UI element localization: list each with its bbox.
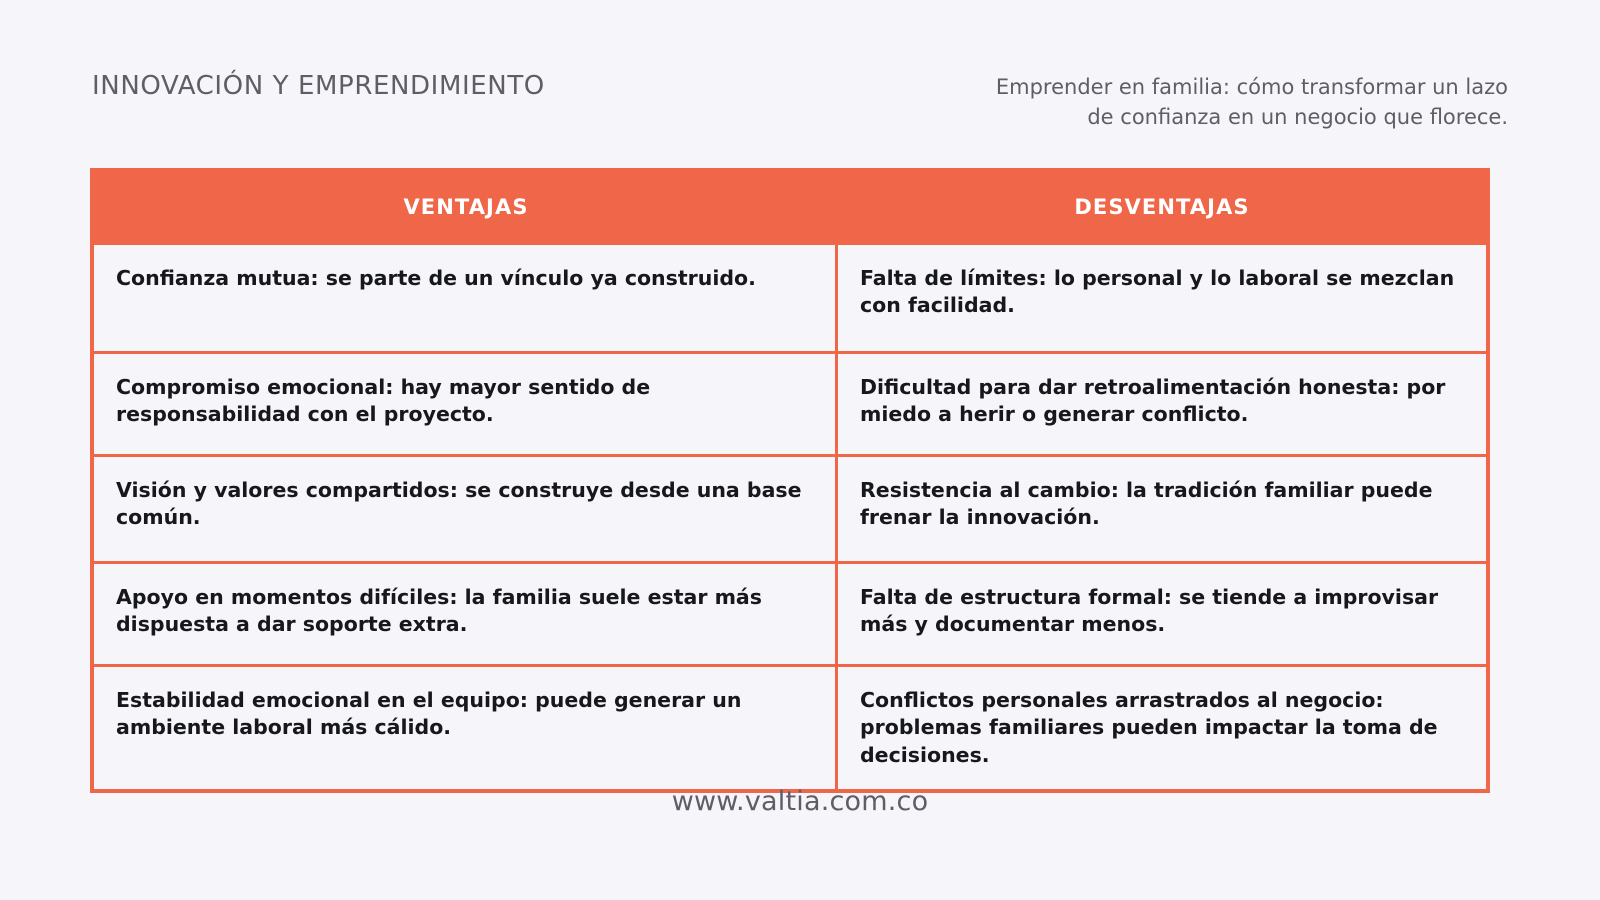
cell-desventaja: Conflictos personales arrastrados al neg… — [838, 667, 1486, 789]
comparison-table: VENTAJAS DESVENTAJAS Confianza mutua: se… — [90, 168, 1490, 793]
cell-ventaja: Visión y valores compartidos: se constru… — [94, 457, 838, 561]
table-header-row: VENTAJAS DESVENTAJAS — [94, 172, 1486, 242]
cell-ventaja: Estabilidad emocional en el equipo: pued… — [94, 667, 838, 789]
column-header-desventajas: DESVENTAJAS — [838, 195, 1486, 219]
cell-desventaja: Resistencia al cambio: la tradición fami… — [838, 457, 1486, 561]
cell-ventaja: Apoyo en momentos difíciles: la familia … — [94, 564, 838, 664]
infographic-page: INNOVACIÓN Y EMPRENDIMIENTO Emprender en… — [0, 0, 1600, 900]
table-row: Confianza mutua: se parte de un vínculo … — [94, 242, 1486, 351]
page-subtitle: Emprender en familia: cómo transformar u… — [968, 72, 1508, 133]
website-url[interactable]: www.valtia.com.co — [672, 786, 929, 817]
table-row: Visión y valores compartidos: se constru… — [94, 454, 1486, 561]
table-row: Compromiso emocional: hay mayor sentido … — [94, 351, 1486, 454]
table-row: Estabilidad emocional en el equipo: pued… — [94, 664, 1486, 789]
cell-desventaja: Dificultad para dar retroalimentación ho… — [838, 354, 1486, 454]
cell-ventaja: Compromiso emocional: hay mayor sentido … — [94, 354, 838, 454]
cell-ventaja: Confianza mutua: se parte de un vínculo … — [94, 245, 838, 351]
page-kicker: INNOVACIÓN Y EMPRENDIMIENTO — [92, 72, 545, 101]
page-header: INNOVACIÓN Y EMPRENDIMIENTO Emprender en… — [0, 72, 1600, 152]
cell-desventaja: Falta de límites: lo personal y lo labor… — [838, 245, 1486, 351]
cell-desventaja: Falta de estructura formal: se tiende a … — [838, 564, 1486, 664]
page-footer: www.valtia.com.co — [0, 786, 1600, 817]
column-header-ventajas: VENTAJAS — [94, 195, 838, 219]
table-row: Apoyo en momentos difíciles: la familia … — [94, 561, 1486, 664]
